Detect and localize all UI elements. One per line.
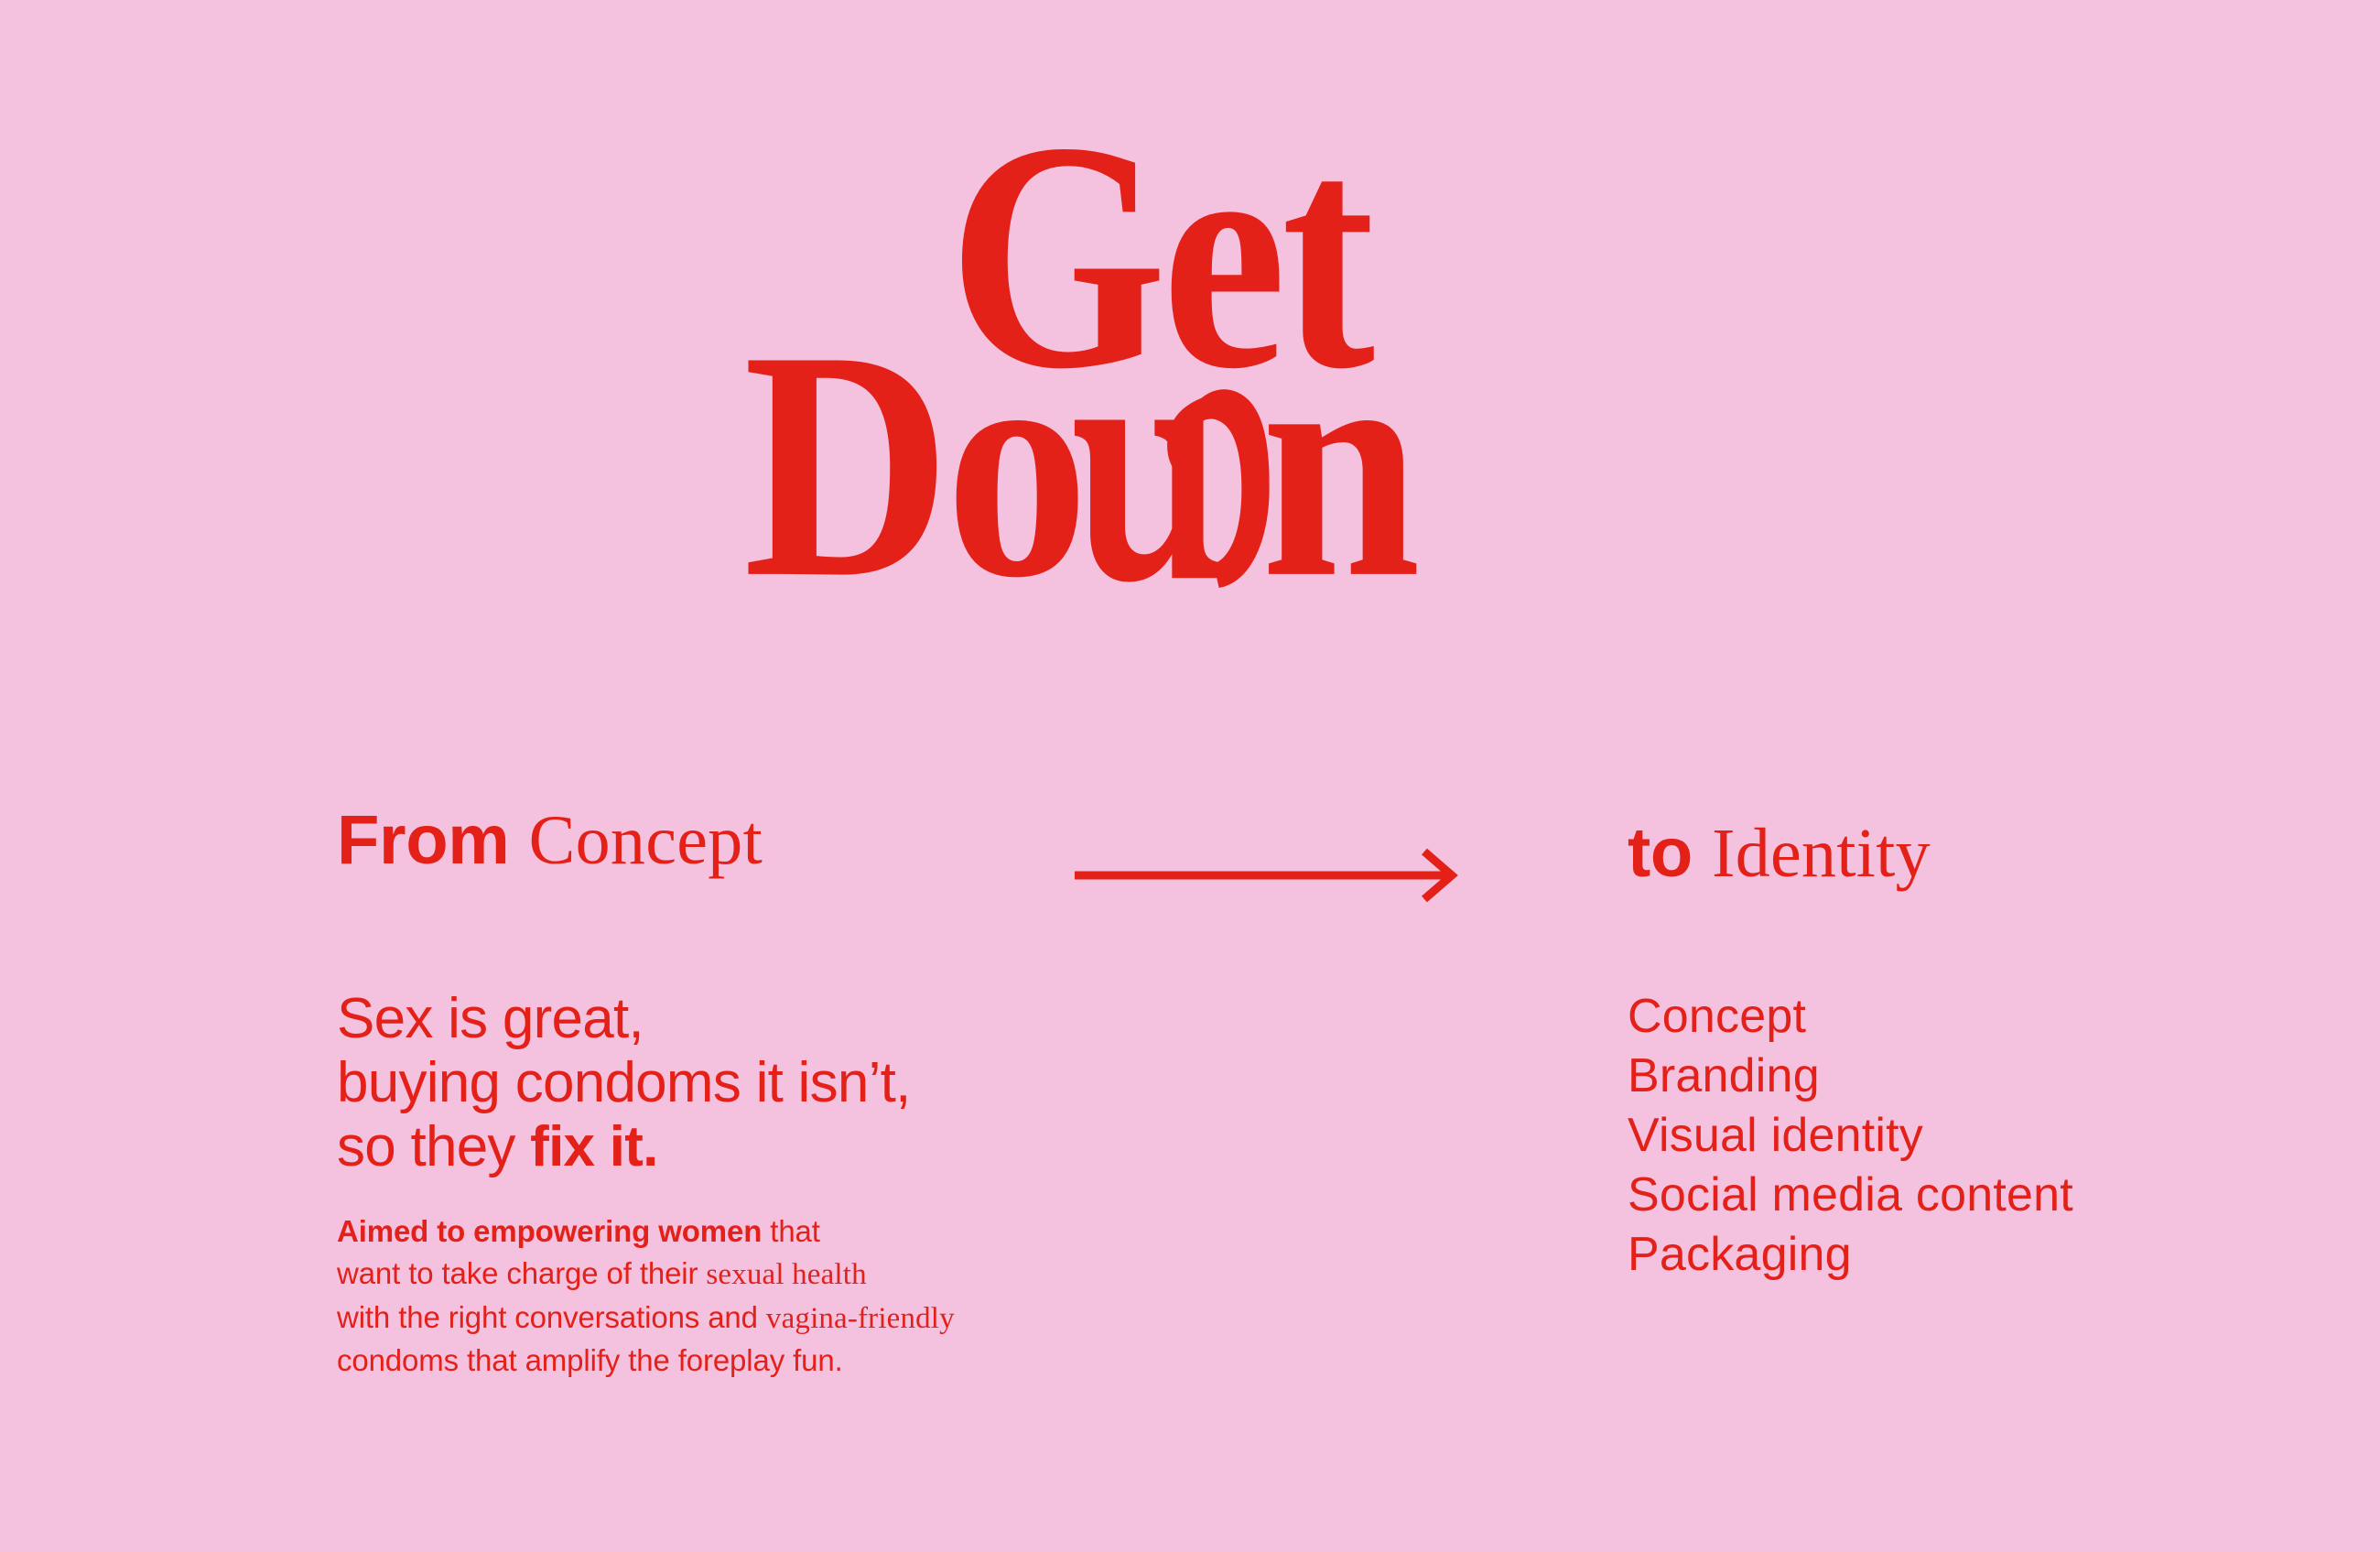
- long-arrow-right-icon: [1073, 848, 1465, 903]
- list-item: Concept: [1628, 987, 2287, 1047]
- tagline-line-3-plain: so they: [337, 1115, 530, 1178]
- list-item: Visual identity: [1628, 1106, 2287, 1166]
- description-serif-vagina-friendly: vagina-friendly: [766, 1302, 955, 1335]
- description-block: Aimed to empowering women that want to t…: [337, 1210, 1161, 1382]
- tagline-line-1: Sex is great,: [337, 987, 644, 1050]
- brand-logo-lockup: Get Do n: [0, 119, 2380, 632]
- list-item: Packaging: [1628, 1225, 2287, 1285]
- tagline-line-3-emphasis: fix it.: [530, 1115, 657, 1178]
- description-emphasis: Aimed to empowering women: [337, 1214, 762, 1248]
- heading-from-label: From: [337, 801, 509, 879]
- logo-down-prefix: Do: [743, 328, 1084, 602]
- concept-column: Sex is great,buying condoms it isn’t,so …: [337, 987, 1161, 1382]
- description-serif-sexual-health: sexual health: [706, 1258, 866, 1291]
- description-line-4: condoms that amplify the foreplay fun.: [337, 1340, 1161, 1382]
- slide-canvas: Get Do n From Concept to Identity Sex is…: [0, 0, 2380, 1552]
- list-item: Social media content: [1628, 1166, 2287, 1225]
- tagline-line-2: buying condoms it isn’t,: [337, 1051, 911, 1114]
- description-line-1: Aimed to empowering women that: [337, 1210, 1161, 1253]
- deliverables-list: Concept Branding Visual identity Social …: [1628, 987, 2287, 1285]
- list-item: Branding: [1628, 1047, 2287, 1106]
- identity-column: Concept Branding Visual identity Social …: [1628, 987, 2287, 1285]
- description-line-3: with the right conversations and vagina-…: [337, 1297, 1161, 1340]
- heading-to-label: to: [1628, 814, 1693, 892]
- heading-to-identity: to Identity: [1628, 819, 1931, 888]
- heading-identity-label: Identity: [1712, 815, 1931, 892]
- heading-concept-label: Concept: [529, 802, 763, 879]
- logo-stylized-w-glyph: [1072, 385, 1271, 592]
- logo-down-suffix: n: [1261, 328, 1416, 602]
- concept-to-identity-row: From Concept to Identity: [0, 806, 2380, 925]
- logo-word-down: Do n: [743, 328, 1415, 602]
- description-line-1-rest: that: [762, 1214, 820, 1248]
- description-line-4-sans: condoms that amplify the foreplay fun.: [337, 1343, 843, 1377]
- description-line-2: want to take charge of their sexual heal…: [337, 1253, 1161, 1296]
- tagline-block: Sex is great,buying condoms it isn’t,so …: [337, 987, 1161, 1179]
- description-line-3-sans: with the right conversations and: [337, 1300, 766, 1334]
- heading-from-concept: From Concept: [337, 806, 763, 875]
- description-line-2-sans: want to take charge of their: [337, 1256, 706, 1290]
